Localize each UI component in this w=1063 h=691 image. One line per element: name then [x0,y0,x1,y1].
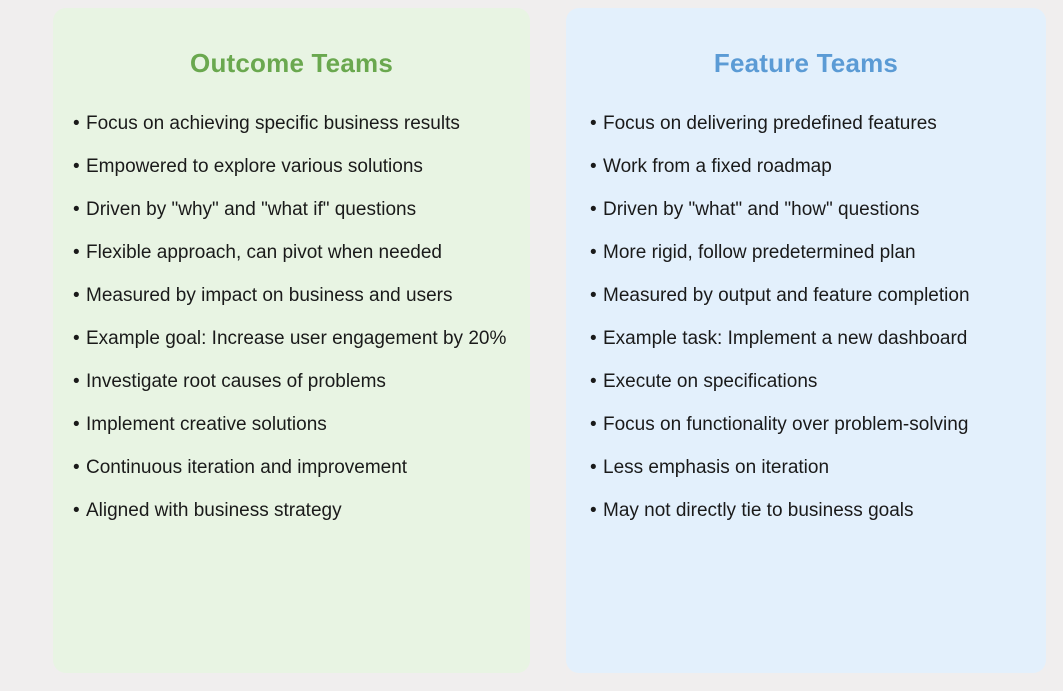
list-item-label: Driven by "what" and "how" questions [603,199,919,220]
list-item-label: Less emphasis on iteration [603,457,829,478]
list-item-label: Work from a fixed roadmap [603,156,832,177]
list-item-label: Implement creative solutions [86,414,327,435]
list-item: •Continuous iteration and improvement [73,456,520,499]
list-item-label: Continuous iteration and improvement [86,457,407,478]
list-item: •Driven by "what" and "how" questions [590,198,1036,241]
list-item-label: More rigid, follow predetermined plan [603,242,916,263]
list-item: •Less emphasis on iteration [590,456,1036,499]
bullet-dot-icon: • [590,241,603,265]
list-item: •More rigid, follow predetermined plan [590,241,1036,284]
list-item-label: Measured by output and feature completio… [603,285,970,306]
bullet-dot-icon: • [590,456,603,480]
bullet-dot-icon: • [73,370,86,394]
list-item-label: Investigate root causes of problems [86,371,386,392]
panel-outcome-teams: Outcome Teams •Focus on achieving specif… [53,8,530,673]
list-item-label: Example goal: Increase user engagement b… [86,328,506,349]
list-item-label: Aligned with business strategy [86,500,342,521]
panel-feature-teams: Feature Teams •Focus on delivering prede… [566,8,1046,673]
list-item: •Measured by impact on business and user… [73,284,520,327]
list-item: •Flexible approach, can pivot when neede… [73,241,520,284]
list-item: •Example task: Implement a new dashboard [590,327,1036,370]
list-item-label: Driven by "why" and "what if" questions [86,199,416,220]
list-item: •Execute on specifications [590,370,1036,413]
list-item: •Investigate root causes of problems [73,370,520,413]
bullet-dot-icon: • [590,198,603,222]
bullet-dot-icon: • [590,413,603,437]
bullet-dot-icon: • [73,155,86,179]
list-item-label: Flexible approach, can pivot when needed [86,242,442,263]
list-item: •Driven by "why" and "what if" questions [73,198,520,241]
bullet-dot-icon: • [73,112,86,136]
list-item: •Implement creative solutions [73,413,520,456]
bullet-dot-icon: • [590,112,603,136]
bullet-dot-icon: • [590,370,603,394]
bullet-list-outcome-teams: •Focus on achieving specific business re… [73,112,520,542]
list-item: •Empowered to explore various solutions [73,155,520,198]
bullet-dot-icon: • [73,241,86,265]
list-item-label: Measured by impact on business and users [86,285,452,306]
bullet-dot-icon: • [73,327,86,351]
bullet-dot-icon: • [590,284,603,308]
list-item: •Work from a fixed roadmap [590,155,1036,198]
bullet-dot-icon: • [73,456,86,480]
list-item: •Example goal: Increase user engagement … [73,327,520,370]
bullet-dot-icon: • [590,499,603,523]
comparison-board: Outcome Teams •Focus on achieving specif… [0,0,1063,691]
bullet-list-feature-teams: •Focus on delivering predefined features… [590,112,1036,542]
bullet-dot-icon: • [590,155,603,179]
panel-title-outcome-teams: Outcome Teams [53,46,530,80]
list-item: •Aligned with business strategy [73,499,520,542]
list-item: •Focus on functionality over problem-sol… [590,413,1036,456]
list-item-label: May not directly tie to business goals [603,500,914,521]
list-item: •May not directly tie to business goals [590,499,1036,542]
list-item-label: Focus on delivering predefined features [603,113,937,134]
list-item-label: Empowered to explore various solutions [86,156,423,177]
list-item-label: Focus on achieving specific business res… [86,113,460,134]
list-item: •Measured by output and feature completi… [590,284,1036,327]
bullet-dot-icon: • [590,327,603,351]
panel-title-feature-teams: Feature Teams [566,46,1046,80]
list-item-label: Execute on specifications [603,371,817,392]
list-item-label: Example task: Implement a new dashboard [603,328,967,349]
bullet-dot-icon: • [73,413,86,437]
bullet-dot-icon: • [73,284,86,308]
list-item: •Focus on achieving specific business re… [73,112,520,155]
bullet-dot-icon: • [73,198,86,222]
list-item-label: Focus on functionality over problem-solv… [603,414,968,435]
list-item: •Focus on delivering predefined features [590,112,1036,155]
bullet-dot-icon: • [73,499,86,523]
